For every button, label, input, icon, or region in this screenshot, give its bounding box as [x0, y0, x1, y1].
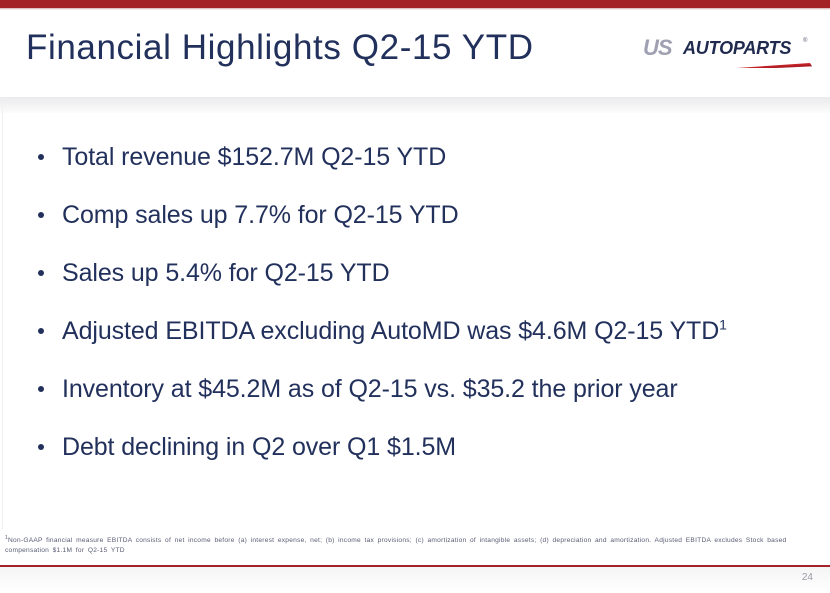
list-item: Sales up 5.4% for Q2-15 YTD: [0, 244, 830, 302]
page-number: 24: [802, 572, 813, 583]
bullet-dot-icon: [38, 212, 44, 218]
footnote-superscript: 1: [719, 316, 727, 332]
bullet-dot-icon: [38, 154, 44, 160]
list-item-label: Adjusted EBITDA excluding AutoMD was $4.…: [62, 317, 727, 346]
page-title: Financial Highlights Q2-15 YTD: [26, 28, 534, 68]
bullet-dot-icon: [38, 444, 44, 450]
list-item-label: Debt declining in Q2 over Q1 $1.5M: [62, 433, 456, 462]
bullet-dot-icon: [38, 270, 44, 276]
list-item-label: Total revenue $152.7M Q2-15 YTD: [62, 143, 446, 172]
logo-registered-mark: ®: [803, 38, 807, 44]
list-item: Total revenue $152.7M Q2-15 YTD: [0, 128, 830, 186]
list-item: Debt declining in Q2 over Q1 $1.5M: [0, 418, 830, 476]
bullet-dot-icon: [38, 386, 44, 392]
footnote-text: Non-GAAP financial measure EBITDA consis…: [5, 537, 786, 554]
logo-us-text: US: [643, 37, 672, 59]
bullet-dot-icon: [38, 328, 44, 334]
slide-footer: [0, 567, 830, 593]
list-item-text: Adjusted EBITDA excluding AutoMD was $4.…: [62, 317, 719, 345]
bullet-list: Total revenue $152.7M Q2-15 YTD Comp sal…: [0, 128, 830, 476]
us-autoparts-logo: US AUTOPARTS ®: [643, 36, 815, 70]
list-item-label: Inventory at $45.2M as of Q2-15 vs. $35.…: [62, 375, 678, 404]
list-item: Inventory at $45.2M as of Q2-15 vs. $35.…: [0, 360, 830, 418]
list-item-label: Comp sales up 7.7% for Q2-15 YTD: [62, 201, 459, 230]
footnote: 1Non-GAAP financial measure EBITDA consi…: [5, 536, 805, 556]
header-divider-band: [0, 97, 830, 113]
logo-autoparts-text: AUTOPARTS: [683, 37, 791, 59]
presentation-slide: Financial Highlights Q2-15 YTD US AUTOPA…: [0, 0, 830, 593]
list-item: Adjusted EBITDA excluding AutoMD was $4.…: [0, 302, 830, 360]
logo-swoosh-icon: [684, 59, 812, 68]
top-accent-bar: [0, 0, 830, 8]
list-item: Comp sales up 7.7% for Q2-15 YTD: [0, 186, 830, 244]
list-item-label: Sales up 5.4% for Q2-15 YTD: [62, 259, 390, 288]
slide-header: Financial Highlights Q2-15 YTD US AUTOPA…: [0, 10, 830, 97]
